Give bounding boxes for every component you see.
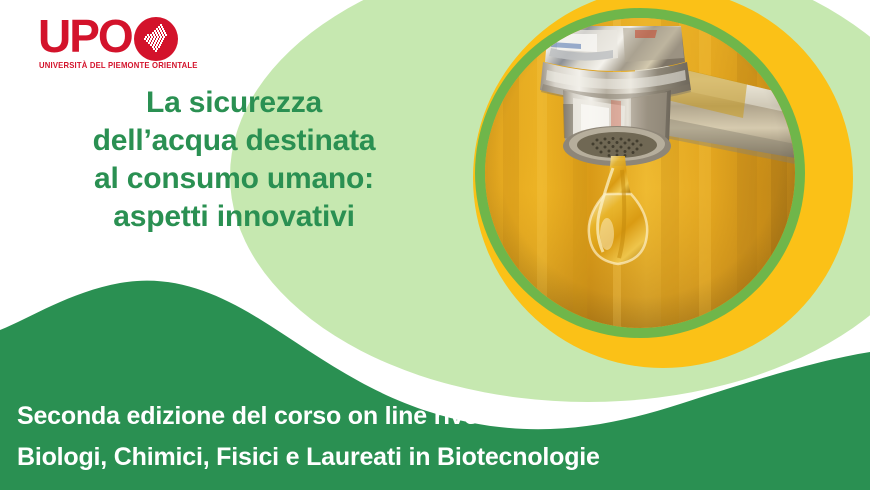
caption-line-2: Biologi, Chimici, Fisici e Laureati in B… [17, 437, 717, 478]
photo-ring [475, 8, 805, 338]
poster-canvas: UPO [0, 0, 870, 490]
logo-mark: UPO [38, 16, 180, 60]
headline-line-3: al consumo umano: [8, 160, 460, 198]
dripping-faucet-photo [485, 18, 795, 328]
headline-line-1: La sicurezza [8, 84, 460, 122]
caption-line-1: Seconda edizione del corso on line rivol… [17, 396, 717, 437]
piemonte-map-dotted-icon [134, 17, 178, 61]
poster-caption: Seconda edizione del corso on line rivol… [17, 396, 717, 478]
headline-line-2: dell’acqua destinata [8, 122, 460, 160]
poster-headline: La sicurezza dell’acqua destinata al con… [8, 84, 460, 236]
logo-subtitle: UNIVERSITÀ DEL PIEMONTE ORIENTALE [39, 60, 198, 70]
upo-logo: UPO [38, 16, 188, 78]
logo-wordmark: UPO [38, 13, 132, 59]
headline-line-4: aspetti innovativi [8, 198, 460, 236]
